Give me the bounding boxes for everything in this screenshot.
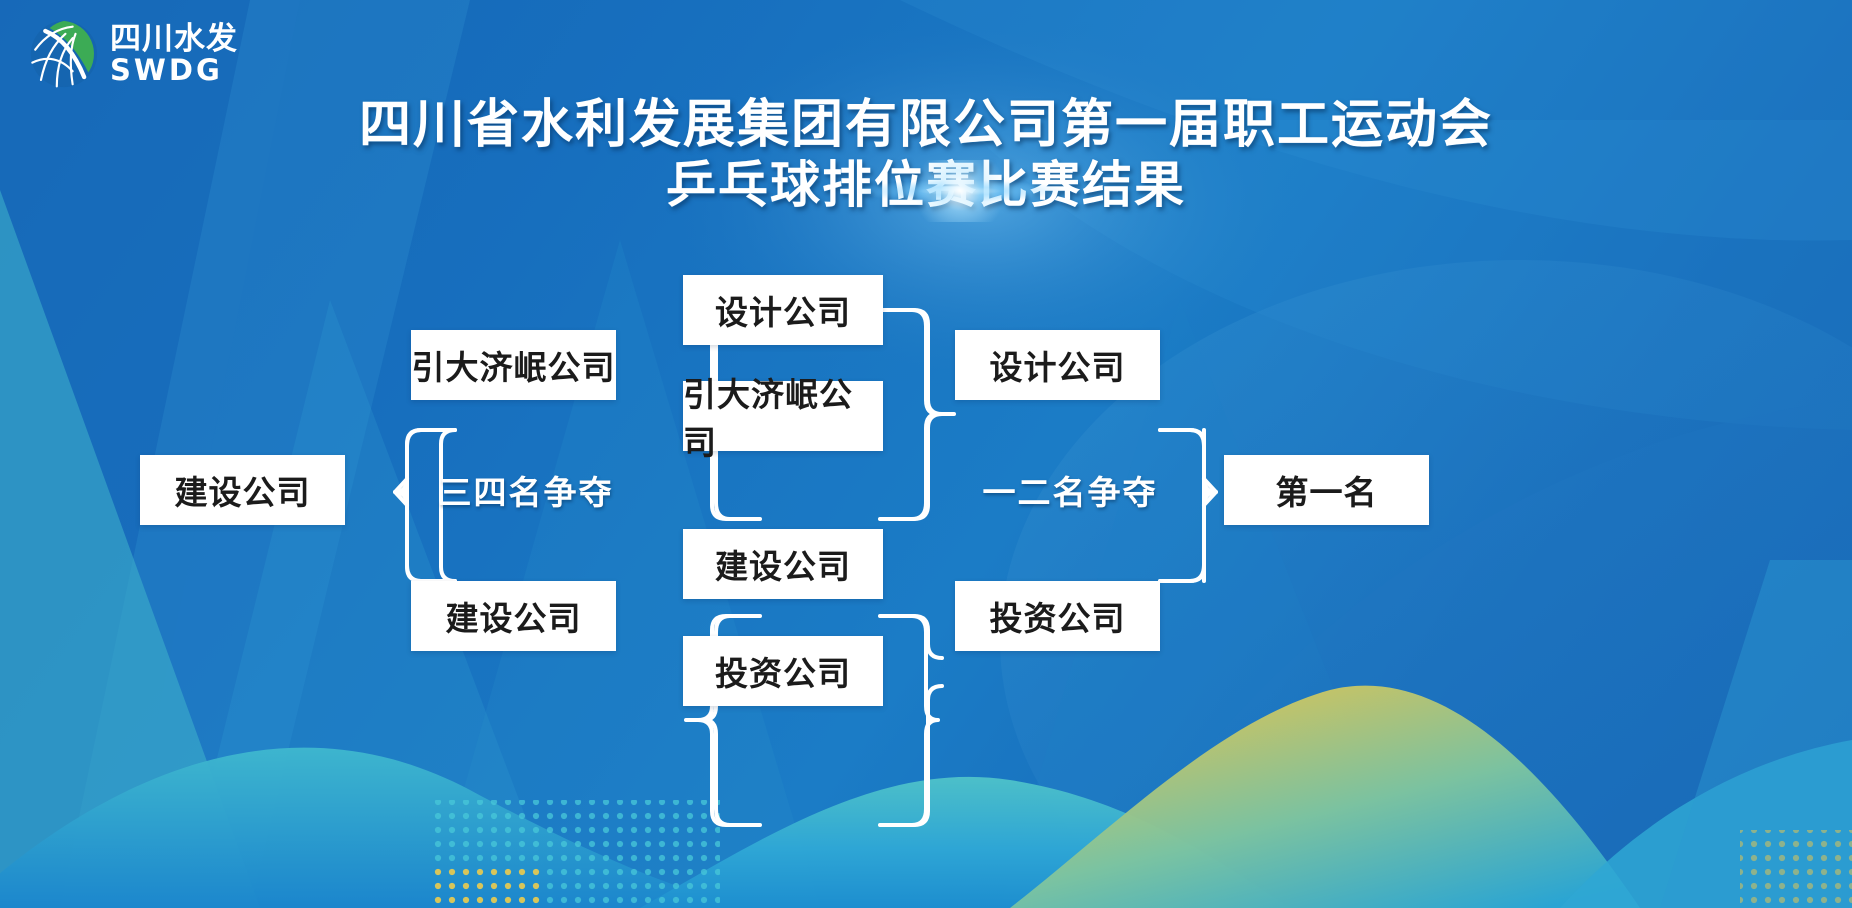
bracket-node-seed[interactable]: 建设公司 <box>140 455 345 525</box>
bracket-node-round2-0[interactable]: 设计公司 <box>683 275 883 345</box>
stage-label-text: 一二名争夺 <box>983 466 1158 514</box>
bracket-node-label: 投资公司 <box>715 647 851 695</box>
bracket-node-round3-1[interactable]: 投资公司 <box>955 581 1160 651</box>
bracket-node-label: 设计公司 <box>715 286 851 334</box>
bracket-node-label: 第一名 <box>1276 466 1378 514</box>
poster-stage: 四川水发 SWDG 四川省水利发展集团有限公司第一届职工运动会 乒乓球排位赛比赛… <box>0 0 1852 908</box>
bracket-nodes: 建设公司 引大济岷公司 建设公司 设计公司 引大济岷公司 建设公司 投资公司 设… <box>0 0 1852 908</box>
bracket-node-round1-1[interactable]: 建设公司 <box>411 581 616 651</box>
stage-label-first-second: 一二名争夺 <box>955 455 1185 525</box>
bracket-node-label: 引大济岷公司 <box>412 341 616 389</box>
stage-label-text: 三四名争夺 <box>439 466 614 514</box>
stage-label-third-fourth: 三四名争夺 <box>411 455 641 525</box>
bracket-node-label: 建设公司 <box>715 540 851 588</box>
bracket-node-round2-1[interactable]: 引大济岷公司 <box>683 381 883 451</box>
bracket-node-round1-0[interactable]: 引大济岷公司 <box>411 330 616 400</box>
bracket-node-label: 建设公司 <box>175 466 311 514</box>
bracket-node-round2-3[interactable]: 投资公司 <box>683 636 883 706</box>
bracket-node-round3-0[interactable]: 设计公司 <box>955 330 1160 400</box>
bracket-node-label: 引大济岷公司 <box>683 368 883 464</box>
bracket-node-label: 设计公司 <box>990 341 1126 389</box>
bracket-node-label: 建设公司 <box>446 592 582 640</box>
bracket-node-round2-2[interactable]: 建设公司 <box>683 529 883 599</box>
bracket-node-label: 投资公司 <box>990 592 1126 640</box>
bracket-node-final[interactable]: 第一名 <box>1224 455 1429 525</box>
